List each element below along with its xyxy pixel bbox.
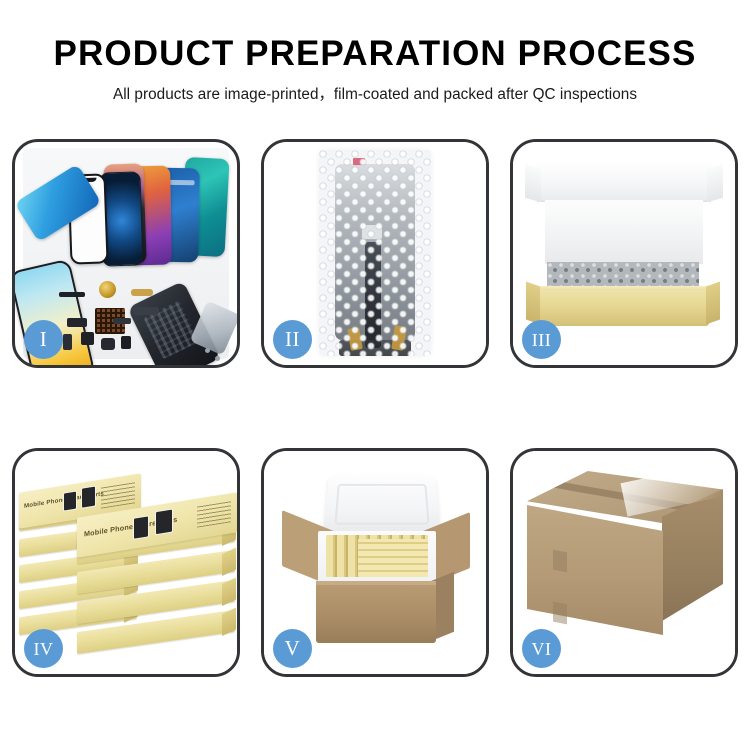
carton-tape-mark-lower — [553, 602, 567, 625]
flex-cable-part-3 — [133, 307, 159, 315]
step-numeral-i: I — [40, 329, 48, 350]
step-badge-i: I — [24, 320, 63, 359]
connector-part-6 — [81, 332, 94, 345]
process-step-grid: I II — [12, 139, 738, 677]
step-badge-ii: II — [273, 320, 312, 359]
inner-box-foam-sheet — [545, 200, 703, 264]
retail-box-stack: Mobile Phone Spare Parts Mobile Phone Sp… — [19, 477, 235, 653]
carton-packed-boxes-row2 — [358, 539, 428, 577]
lid-spec-lines-front — [197, 500, 231, 527]
lid-phone-graphic-3 — [133, 515, 149, 540]
inner-box-front-panel — [537, 290, 709, 326]
bag-seal-tag — [353, 158, 365, 165]
process-step-panel-iii[interactable]: III — [510, 139, 738, 368]
connector-part-7 — [101, 338, 115, 350]
carton-left-face — [527, 505, 663, 635]
step-badge-iii: III — [522, 320, 561, 359]
carton-foam-lid — [323, 476, 442, 537]
lcd-bottom-board — [339, 340, 411, 356]
process-step-panel-i[interactable]: I — [12, 139, 240, 368]
step-numeral-iv: IV — [34, 640, 54, 658]
lid-phone-graphic-1 — [63, 490, 77, 511]
step-badge-iv: IV — [24, 629, 63, 668]
screw-part-2 — [215, 356, 220, 361]
flex-cable-part-1 — [59, 292, 85, 297]
speaker-coil-part — [99, 281, 116, 298]
connector-part-8 — [121, 336, 131, 349]
sealed-shipping-carton — [527, 471, 723, 651]
step-numeral-v: V — [285, 638, 301, 659]
step-numeral-ii: II — [285, 329, 300, 350]
process-step-panel-iv[interactable]: Mobile Phone Spare Parts Mobile Phone Sp… — [12, 448, 240, 677]
lid-phone-graphic-4 — [155, 508, 173, 535]
connector-part-5 — [63, 334, 72, 350]
lid-spec-lines-back — [101, 481, 135, 508]
process-step-panel-ii[interactable]: II — [261, 139, 489, 368]
bubble-wrap-bag — [319, 150, 431, 356]
carton-front-panel — [316, 585, 436, 643]
lcd-gold-contact-left — [347, 327, 363, 351]
lcd-gold-contact-right — [391, 325, 407, 351]
step-badge-v: V — [273, 629, 312, 668]
flex-cable-part-2 — [131, 289, 153, 296]
step-badge-vi: VI — [522, 629, 561, 668]
lcd-driver-chip — [361, 224, 383, 240]
process-step-panel-v[interactable]: V — [261, 448, 489, 677]
lcd-flex-cable — [365, 242, 381, 348]
product-preparation-infographic: PRODUCT PREPARATION PROCESS All products… — [0, 0, 750, 750]
carton-tape-mark-upper — [553, 550, 567, 573]
header: PRODUCT PREPARATION PROCESS All products… — [0, 36, 750, 104]
inner-box-lid — [537, 162, 711, 202]
lcd-screen-inside — [335, 164, 415, 340]
connector-part-10 — [113, 318, 131, 324]
export-carton-open — [282, 473, 470, 651]
process-step-panel-vi[interactable]: VI — [510, 448, 738, 677]
page-title: PRODUCT PREPARATION PROCESS — [0, 36, 750, 73]
step-numeral-iii: III — [532, 331, 551, 349]
lid-phone-graphic-2 — [81, 485, 96, 508]
page-subtitle: All products are image-printed，film-coat… — [0, 82, 750, 104]
step-numeral-vi: VI — [532, 640, 552, 658]
inner-box-open — [523, 162, 725, 334]
flex-cable-part-4 — [67, 318, 87, 327]
